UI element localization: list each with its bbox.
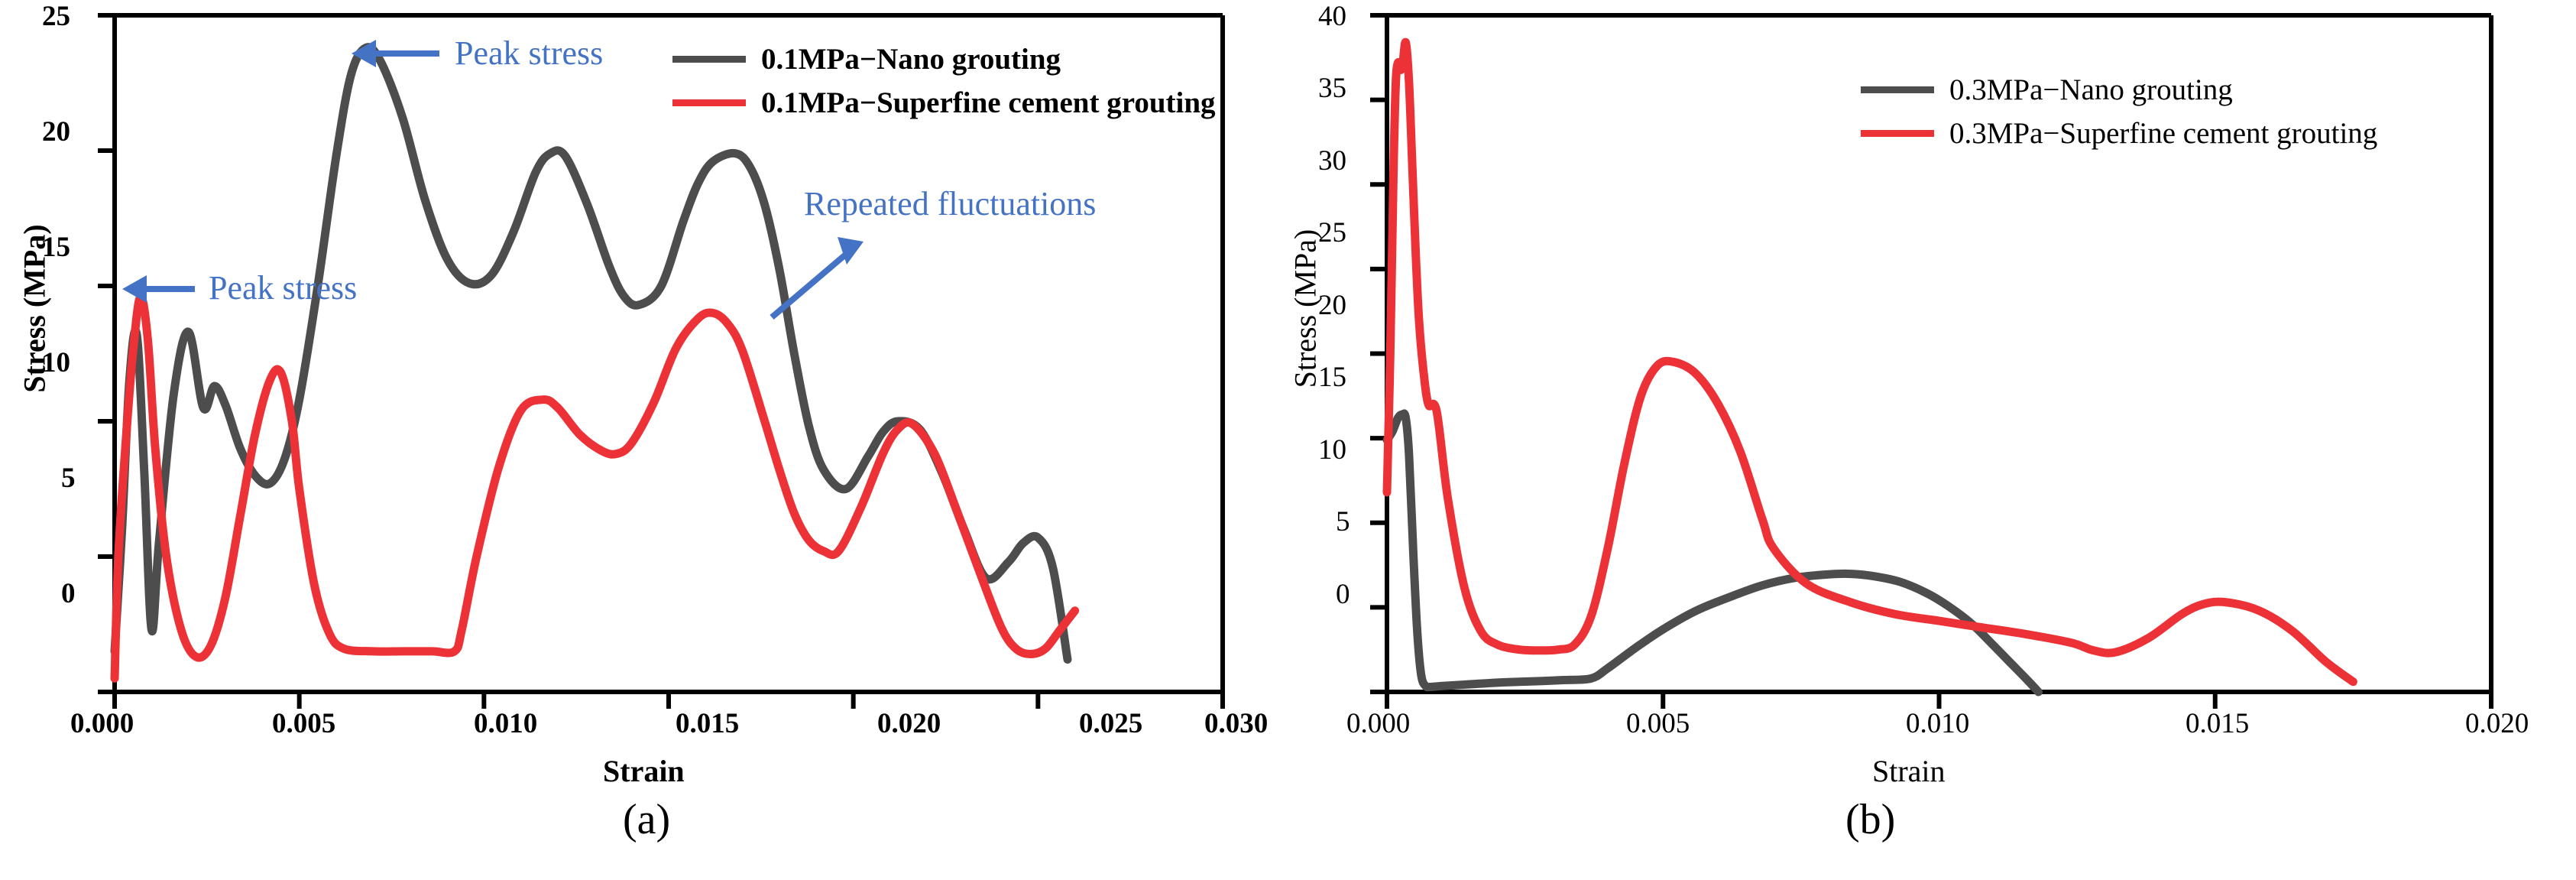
panel-b-ytick-35: 35 <box>1318 72 1346 105</box>
panel-a-legend: 0.1MPa−Nano grouting 0.1MPa−Superfine ce… <box>672 44 1216 118</box>
legend-item-nano[interactable]: 0.3MPa−Nano grouting <box>1861 75 2377 105</box>
annotation-peak-stress-nano: Peak stress <box>455 37 603 70</box>
legend-label-nano: 0.1MPa−Nano grouting <box>761 44 1061 74</box>
panel-b-ylabel: Stress (MPa) <box>1288 179 1324 439</box>
panel-a-ytick-0: 0 <box>61 577 76 610</box>
panel-a-xtick-6: 0.030 <box>1204 707 1268 740</box>
panel-a-ytick-25: 25 <box>42 0 70 33</box>
panel-a-ylabel: Stress (MPa) <box>17 179 53 439</box>
legend-swatch-nano <box>1861 86 1934 93</box>
panel-b-xtick-4: 0.020 <box>2465 707 2529 740</box>
panel-b: 40 35 30 25 20 15 10 5 0 Stress (MPa) 0.… <box>1291 0 2576 880</box>
legend-swatch-superfine <box>1861 130 1934 137</box>
panel-b-ytick-0: 0 <box>1336 578 1350 611</box>
panel-b-legend: 0.3MPa−Nano grouting 0.3MPa−Superfine ce… <box>1861 75 2377 148</box>
legend-swatch-nano <box>672 56 746 63</box>
legend-label-superfine: 0.1MPa−Superfine cement grouting <box>761 88 1216 118</box>
panel-a-ytick-5: 5 <box>61 462 76 495</box>
panel-b-ytick-30: 30 <box>1318 145 1346 177</box>
panel-a-xtick-5: 0.025 <box>1079 707 1142 740</box>
legend-item-nano[interactable]: 0.1MPa−Nano grouting <box>672 44 1216 74</box>
panel-b-caption: (b) <box>1845 795 1895 844</box>
panel-a-xtick-1: 0.005 <box>272 707 335 740</box>
panel-a-xtick-0: 0.000 <box>70 707 134 740</box>
panel-a-xtick-2: 0.010 <box>474 707 537 740</box>
annotation-peak-stress-superfine: Peak stress <box>209 271 357 305</box>
panel-a-ytick-20: 20 <box>42 115 70 148</box>
panel-a-xtick-4: 0.020 <box>877 707 941 740</box>
panel-a-xlabel: Strain <box>603 753 685 789</box>
panel-a-xtick-3: 0.015 <box>676 707 739 740</box>
panel-a: 25 20 15 10 5 0 Stress (MPa) 0.000 0.005… <box>0 0 1291 880</box>
panel-b-xtick-1: 0.005 <box>1626 707 1690 740</box>
legend-swatch-superfine <box>672 99 746 106</box>
legend-item-superfine[interactable]: 0.3MPa−Superfine cement grouting <box>1861 119 2377 148</box>
legend-label-superfine: 0.3MPa−Superfine cement grouting <box>1949 119 2377 148</box>
legend-label-nano: 0.3MPa−Nano grouting <box>1949 75 2233 105</box>
panel-b-xtick-2: 0.010 <box>1906 707 1969 740</box>
panel-a-caption: (a) <box>623 795 670 844</box>
panel-a-plot <box>0 0 1291 880</box>
legend-item-superfine[interactable]: 0.1MPa−Superfine cement grouting <box>672 88 1216 118</box>
panel-b-ytick-5: 5 <box>1336 505 1350 538</box>
annotation-repeated-fluctuations: Repeated fluctuations <box>804 187 1096 221</box>
figure-container: 25 20 15 10 5 0 Stress (MPa) 0.000 0.005… <box>0 0 2576 880</box>
panel-b-xlabel: Strain <box>1872 753 1946 789</box>
panel-b-xtick-0: 0.000 <box>1346 707 1410 740</box>
panel-b-xtick-3: 0.015 <box>2186 707 2249 740</box>
panel-b-ytick-40: 40 <box>1318 0 1346 33</box>
